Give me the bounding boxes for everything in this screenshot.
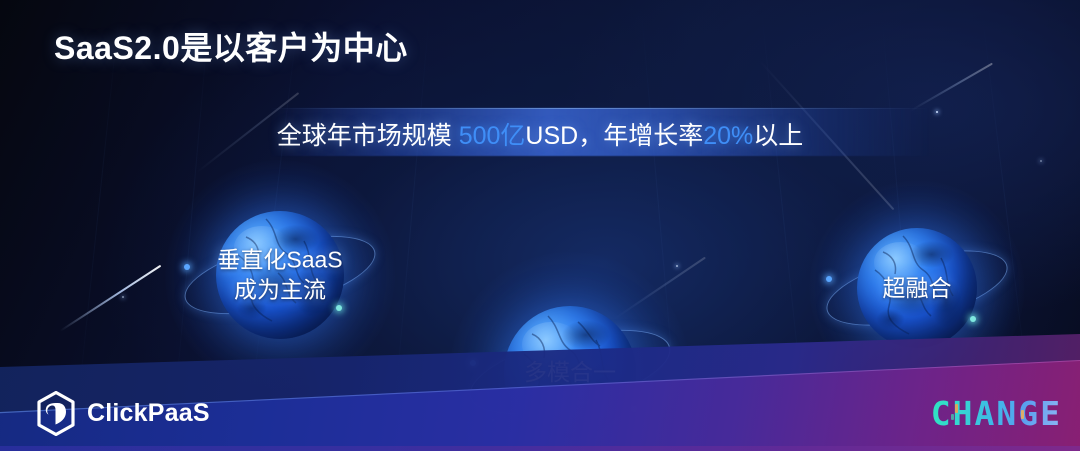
- globe-continent-lines: [857, 228, 977, 348]
- orbit-dot: [336, 305, 342, 311]
- glitch-pixel: [955, 404, 958, 413]
- globe-continent-lines: [216, 211, 344, 339]
- globe-sphere: [857, 228, 977, 348]
- subtitle-part-3: 以上: [753, 122, 803, 150]
- subtitle-banner-line: [270, 108, 930, 109]
- star-dot: [676, 265, 678, 267]
- orbit-dot: [826, 276, 832, 282]
- presentation-slide: SaaS2.0是以客户为中心 全球年市场规模 500亿USD，年增长率20%以上: [0, 0, 1080, 451]
- subtitle-highlight-growth-rate: 20%: [703, 122, 753, 150]
- subtitle-text: 全球年市场规模 500亿USD，年增长率20%以上: [0, 116, 1080, 152]
- hexagon-logo-icon: [36, 391, 76, 436]
- star-dot: [122, 296, 124, 298]
- subtitle-part-1: 全球年市场规模: [277, 122, 459, 150]
- brand-logo-clickpaas[interactable]: ClickPaaS: [36, 391, 210, 436]
- star-dot: [936, 111, 938, 113]
- globe-highlight: [234, 226, 290, 270]
- subtitle-highlight-market-size: 500亿: [459, 122, 526, 150]
- brand-name: ClickPaaS: [87, 399, 210, 428]
- subtitle-part-2: USD，年增长率: [525, 122, 703, 150]
- globe-sphere: [216, 211, 344, 339]
- star-dot: [1040, 160, 1042, 162]
- globe-highlight: [874, 242, 927, 283]
- orbit-dot: [970, 316, 976, 322]
- glitch-pixel: [1021, 410, 1024, 419]
- page-title: SaaS2.0是以客户为中心: [54, 23, 408, 69]
- orbit-dot: [184, 264, 190, 270]
- globe-vertical-saas[interactable]: 垂直化SaaS 成为主流: [180, 180, 380, 370]
- footer-baseline: [0, 446, 1080, 451]
- glitch-pixel: [951, 414, 954, 420]
